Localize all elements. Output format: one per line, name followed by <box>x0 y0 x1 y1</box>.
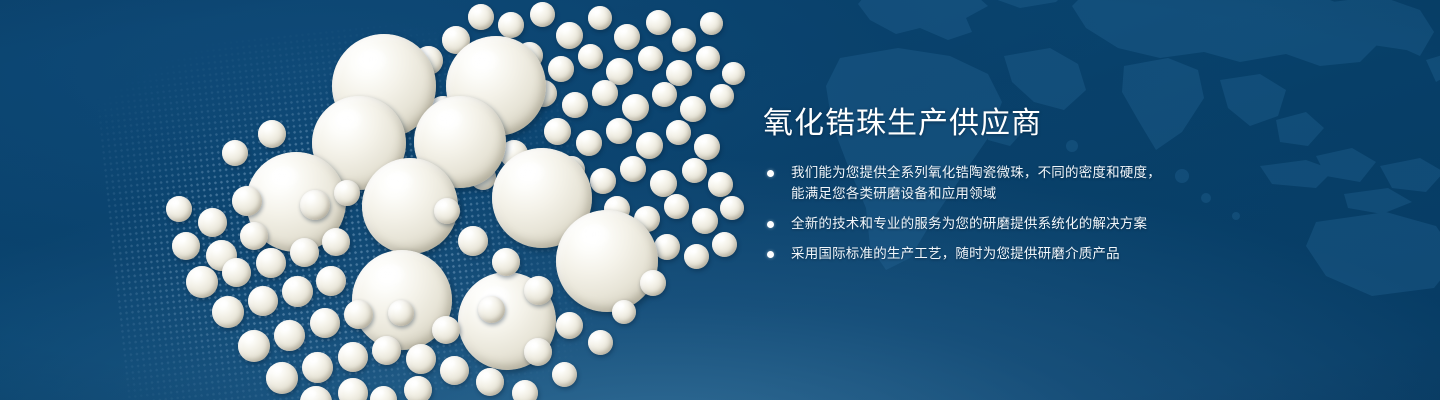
bullet-dot-icon <box>767 251 774 258</box>
list-item-line2: 能满足您各类研磨设备和应用领域 <box>791 184 1233 205</box>
hero-banner: 氧化锆珠生产供应商 我们能为您提供全系列氧化锆陶瓷微珠，不同的密度和硬度， 能满… <box>0 0 1440 400</box>
list-item-line1: 全新的技术和专业的服务为您的研磨提供系统化的解决方案 <box>791 216 1147 232</box>
list-item: 全新的技术和专业的服务为您的研磨提供系统化的解决方案 <box>763 214 1233 235</box>
page-title: 氧化锆珠生产供应商 <box>763 104 1233 144</box>
banner-copy: 氧化锆珠生产供应商 我们能为您提供全系列氧化锆陶瓷微珠，不同的密度和硬度， 能满… <box>763 104 1233 265</box>
list-item: 采用国际标准的生产工艺，随时为您提供研磨介质产品 <box>763 244 1233 265</box>
bullet-dot-icon <box>767 170 774 177</box>
list-item: 我们能为您提供全系列氧化锆陶瓷微珠，不同的密度和硬度， 能满足您各类研磨设备和应… <box>763 163 1233 205</box>
feature-list: 我们能为您提供全系列氧化锆陶瓷微珠，不同的密度和硬度， 能满足您各类研磨设备和应… <box>763 163 1233 265</box>
bullet-dot-icon <box>767 221 774 228</box>
list-item-line1: 我们能为您提供全系列氧化锆陶瓷微珠，不同的密度和硬度， <box>791 165 1161 181</box>
list-item-line1: 采用国际标准的生产工艺，随时为您提供研磨介质产品 <box>791 246 1120 262</box>
